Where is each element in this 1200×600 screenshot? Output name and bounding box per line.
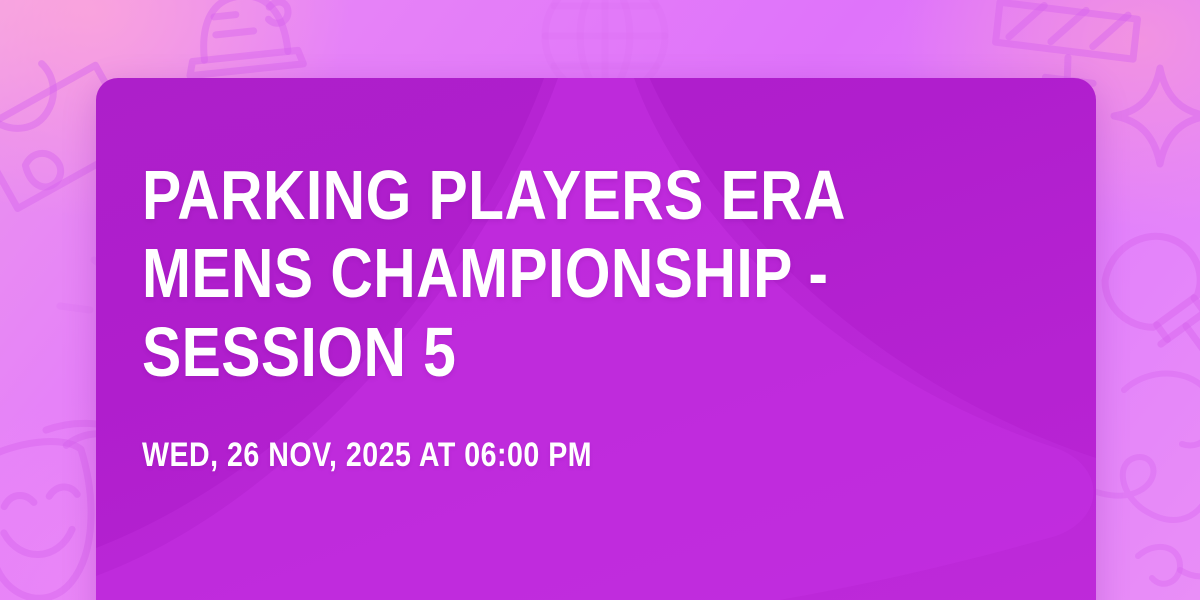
event-card: Parking Players Era Mens Championship - … — [96, 78, 1096, 600]
event-banner: Parking Players Era Mens Championship - … — [0, 0, 1200, 600]
event-card-content: Parking Players Era Mens Championship - … — [96, 78, 1096, 600]
event-title: Parking Players Era Mens Championship - … — [142, 156, 893, 391]
event-datetime: Wed, 26 Nov, 2025 at 06:00 PM — [142, 435, 893, 476]
sparkle-icon — [1108, 58, 1200, 173]
microphone-icon — [1092, 222, 1200, 397]
